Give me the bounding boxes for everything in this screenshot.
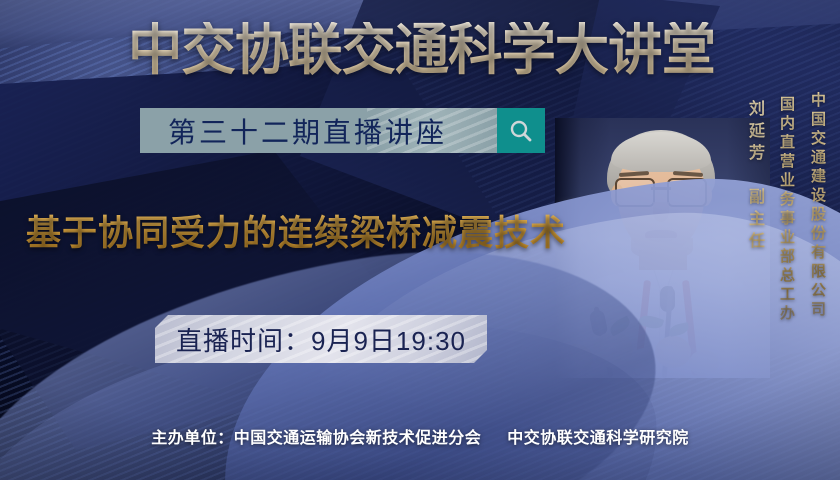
lecture-topic: 基于协同受力的连续梁桥减震技术 bbox=[26, 205, 566, 256]
broadcast-time-banner: 直播时间：9月9日19:30 bbox=[155, 315, 487, 363]
episode-banner: 第三十二期直播讲座 bbox=[140, 108, 545, 153]
search-icon[interactable] bbox=[497, 108, 545, 153]
page-title: 中交协联交通科学大讲堂 bbox=[128, 22, 715, 78]
organizer-prefix: 主办单位： bbox=[151, 430, 234, 447]
speaker-company: 中国交通建设股份有限公司 bbox=[807, 92, 828, 342]
webinar-poster: 中交协联交通科学大讲堂 第三十二期直播讲座 基于协同受力的连续梁桥减震技术 直播… bbox=[0, 0, 840, 480]
broadcast-time-label: 直播时间：9月9日19:30 bbox=[176, 321, 466, 358]
episode-label: 第三十二期直播讲座 bbox=[140, 108, 497, 153]
speaker-credits: 中国交通建设股份有限公司 国内直营业务事业部总工办 刘延芳 副主任 bbox=[742, 92, 828, 346]
organizer-name-1: 中国交通运输协会新技术促进分会 bbox=[234, 430, 482, 447]
speaker-name-title: 刘延芳 副主任 bbox=[742, 100, 766, 300]
organizer-footer: 主办单位：中国交通运输协会新技术促进分会中交协联交通科学研究院 bbox=[0, 424, 840, 448]
speaker-department: 国内直营业务事业部总工办 bbox=[776, 96, 797, 346]
organizer-name-2: 中交协联交通科学研究院 bbox=[507, 430, 689, 447]
